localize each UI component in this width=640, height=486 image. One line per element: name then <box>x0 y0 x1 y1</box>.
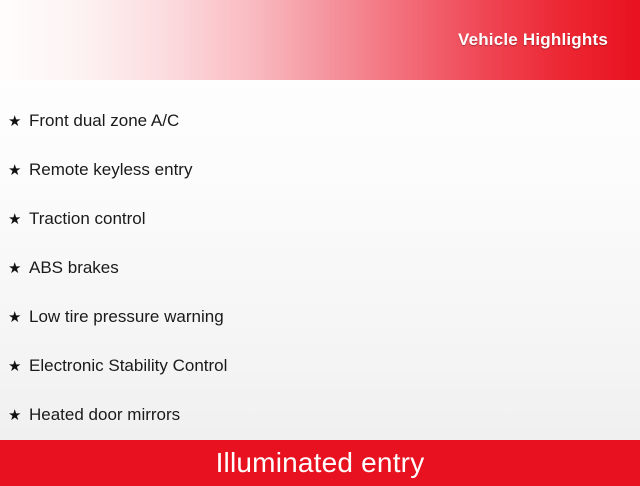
highlight-label: Traction control <box>29 209 146 229</box>
highlight-label: Electronic Stability Control <box>29 356 227 376</box>
highlight-label: Low tire pressure warning <box>29 307 224 327</box>
star-bullet-icon: ★ <box>8 359 29 374</box>
highlight-label: Heated door mirrors <box>29 405 180 425</box>
star-bullet-icon: ★ <box>8 310 29 325</box>
list-item: ★ Low tire pressure warning <box>0 293 640 342</box>
list-item: ★ Heated door mirrors <box>0 391 640 440</box>
list-item: ★ ABS brakes <box>0 244 640 293</box>
footer-feature-text: Illuminated entry <box>216 447 425 479</box>
highlight-label: Front dual zone A/C <box>29 111 179 131</box>
list-item: ★ Remote keyless entry <box>0 146 640 195</box>
star-bullet-icon: ★ <box>8 163 29 178</box>
header-banner: Vehicle Highlights <box>0 0 640 80</box>
highlight-label: Remote keyless entry <box>29 160 192 180</box>
vehicle-highlights-list: ★ Front dual zone A/C ★ Remote keyless e… <box>0 80 640 440</box>
highlight-label: ABS brakes <box>29 258 119 278</box>
star-bullet-icon: ★ <box>8 212 29 227</box>
star-bullet-icon: ★ <box>8 408 29 423</box>
vehicle-highlights-card: Vehicle Highlights ★ Front dual zone A/C… <box>0 0 640 480</box>
list-item: ★ Traction control <box>0 195 640 244</box>
list-item: ★ Electronic Stability Control <box>0 342 640 391</box>
page-title: Vehicle Highlights <box>458 30 608 50</box>
footer-banner: Illuminated entry <box>0 440 640 486</box>
star-bullet-icon: ★ <box>8 261 29 276</box>
list-item: ★ Front dual zone A/C <box>0 97 640 146</box>
star-bullet-icon: ★ <box>8 114 29 129</box>
